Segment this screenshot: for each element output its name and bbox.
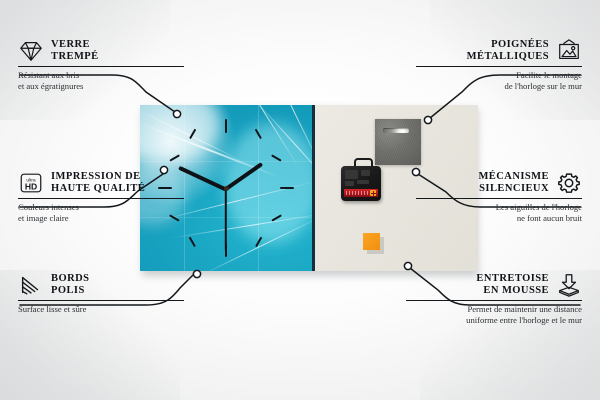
metal-hanger-plate	[375, 119, 421, 165]
battery-plus-terminal	[370, 190, 376, 196]
feature-rule	[416, 66, 582, 67]
feature-title: IMPRESSION DE HAUTE QUALITÉ	[51, 171, 145, 196]
svg-text:HD: HD	[25, 182, 37, 192]
feature-rule	[416, 198, 582, 199]
feature-heading: POIGNÉES MÉTALLIQUES	[416, 38, 582, 64]
feature-rule	[18, 66, 184, 67]
polished-edges-icon	[18, 272, 44, 298]
mechanism-body	[341, 166, 381, 201]
clock-hand-minute	[178, 166, 227, 191]
feature-rule	[18, 300, 184, 301]
glass-pane-line	[140, 161, 312, 162]
feature-heading: VERRE TREMPÉ	[18, 38, 184, 64]
feature-title: ENTRETOISE EN MOUSSE	[476, 273, 549, 298]
feature-rule	[406, 300, 582, 301]
clock-tick-3	[280, 187, 294, 189]
battery-label	[346, 191, 368, 195]
feature-description: Permet de maintenir une distance uniform…	[406, 304, 582, 325]
mechanism-detail	[357, 180, 369, 184]
foam-spacer-arrow-icon	[556, 272, 582, 298]
feature-mecanisme-silencieux[interactable]: MÉCANISME SILENCIEUX Les aiguilles de l'…	[416, 170, 582, 223]
picture-frame-hanger-icon	[556, 38, 582, 64]
feature-heading: MÉCANISME SILENCIEUX	[416, 170, 582, 196]
feature-entretoise-en-mousse[interactable]: ENTRETOISE EN MOUSSE Permet de maintenir…	[406, 272, 582, 325]
hanger-slot	[383, 128, 409, 133]
mechanism-detail	[361, 170, 370, 176]
feature-description: Résistant aux bris et aux égratignures	[18, 70, 184, 91]
feature-description: Surface lisse et sûre	[18, 304, 184, 315]
feature-bords-polis[interactable]: BORDS POLIS Surface lisse et sûre	[18, 272, 184, 315]
feature-description: Facilite le montage de l'horloge sur le …	[416, 70, 582, 91]
clock-tick-7	[189, 237, 196, 247]
feature-heading: BORDS POLIS	[18, 272, 184, 298]
feature-impression-haute-qualite[interactable]: ultra HD IMPRESSION DE HAUTE QUALITÉ Cou…	[18, 170, 184, 223]
feature-description: Les aiguilles de l'horloge ne font aucun…	[416, 202, 582, 223]
glass-pane-line	[184, 105, 185, 271]
feature-title: VERRE TREMPÉ	[51, 39, 99, 64]
ultra-hd-icon: ultra HD	[18, 170, 44, 196]
feature-poignees-metalliques[interactable]: POIGNÉES MÉTALLIQUES Facilite le montage…	[416, 38, 582, 91]
mechanism-detail	[345, 181, 354, 186]
foam-spacer-pad	[363, 233, 380, 250]
feature-description: Couleurs intenses et image claire	[18, 202, 184, 223]
battery	[344, 189, 378, 197]
glass-pane-line	[258, 105, 259, 271]
clock-center-cap	[224, 186, 229, 191]
gear-icon	[556, 170, 582, 196]
feather-highlight	[140, 105, 220, 163]
clock-hand-second	[225, 189, 227, 251]
feature-title: BORDS POLIS	[51, 273, 89, 298]
feature-heading: ENTRETOISE EN MOUSSE	[406, 272, 582, 298]
feature-title: MÉCANISME SILENCIEUX	[478, 171, 549, 196]
infographic-canvas: VERRE TREMPÉ Résistant aux bris et aux é…	[0, 0, 600, 400]
feature-heading: ultra HD IMPRESSION DE HAUTE QUALITÉ	[18, 170, 184, 196]
clock-mechanism	[341, 163, 381, 201]
mechanism-detail	[345, 170, 358, 179]
feature-title: POIGNÉES MÉTALLIQUES	[467, 39, 549, 64]
feature-verre-trempe[interactable]: VERRE TREMPÉ Résistant aux bris et aux é…	[18, 38, 184, 91]
diamond-icon	[18, 38, 44, 64]
clock-tick-12	[225, 119, 227, 133]
metal-grain-texture	[375, 119, 421, 165]
feature-rule	[18, 198, 184, 199]
